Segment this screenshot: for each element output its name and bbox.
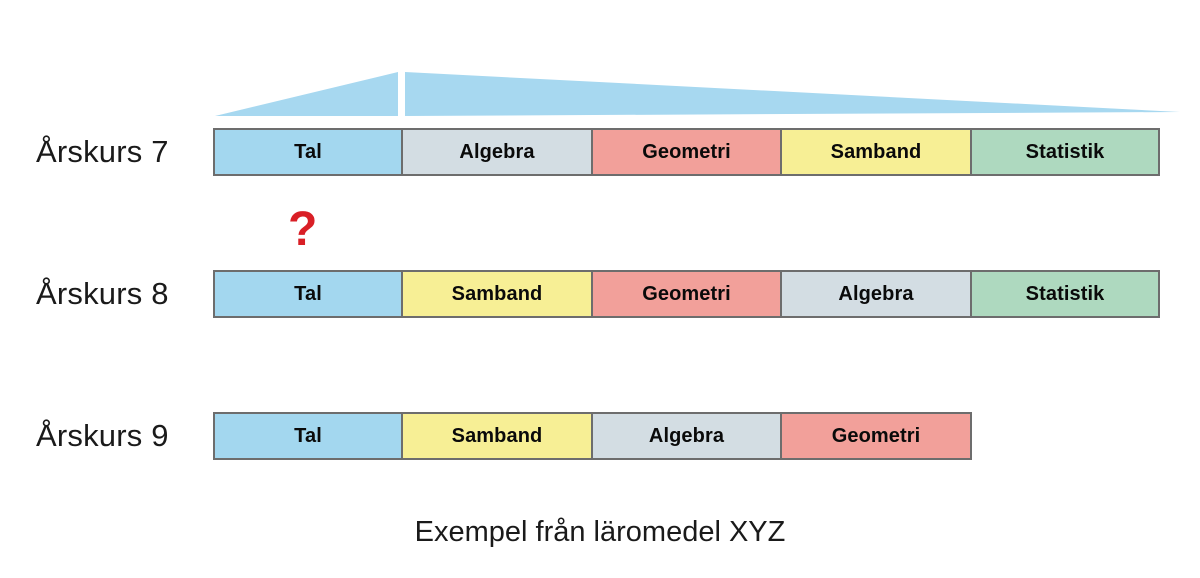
year-label-7: Årskurs 7: [36, 126, 169, 178]
wedge-left-triangle: [215, 72, 398, 116]
strand-bar-8: Tal Samband Geometri Algebra Statistik: [213, 270, 1160, 318]
figure-canvas: Årskurs 7 Tal Algebra Geometri Samband S…: [0, 0, 1200, 578]
segment-tal[interactable]: Tal: [213, 270, 403, 318]
figure-caption: Exempel från läromedel XYZ: [0, 516, 1200, 549]
segment-algebra[interactable]: Algebra: [780, 270, 972, 318]
segment-algebra[interactable]: Algebra: [591, 412, 782, 460]
strand-bar-7: Tal Algebra Geometri Samband Statistik: [213, 128, 1160, 176]
year-label-8: Årskurs 8: [36, 268, 169, 320]
segment-algebra[interactable]: Algebra: [401, 128, 593, 176]
segment-geometri[interactable]: Geometri: [591, 128, 782, 176]
segment-tal[interactable]: Tal: [213, 412, 403, 460]
segment-statistik[interactable]: Statistik: [970, 270, 1160, 318]
segment-statistik[interactable]: Statistik: [970, 128, 1160, 176]
strand-bar-9: Tal Samband Algebra Geometri: [213, 412, 972, 460]
year-row-9: Årskurs 9 Tal Samband Algebra Geometri: [0, 410, 1200, 462]
segment-samband[interactable]: Samband: [401, 270, 593, 318]
segment-tal[interactable]: Tal: [213, 128, 403, 176]
segment-geometri[interactable]: Geometri: [780, 412, 972, 460]
segment-geometri[interactable]: Geometri: [591, 270, 782, 318]
segment-samband[interactable]: Samband: [780, 128, 972, 176]
wedge-right-triangle: [405, 72, 1180, 116]
year-row-7: Årskurs 7 Tal Algebra Geometri Samband S…: [0, 126, 1200, 178]
year-label-9: Årskurs 9: [36, 410, 169, 462]
segment-samband[interactable]: Samband: [401, 412, 593, 460]
year-row-8: Årskurs 8 Tal Samband Geometri Algebra S…: [0, 268, 1200, 320]
question-mark-annotation: ?: [288, 206, 317, 254]
progression-wedge: [0, 0, 1200, 130]
